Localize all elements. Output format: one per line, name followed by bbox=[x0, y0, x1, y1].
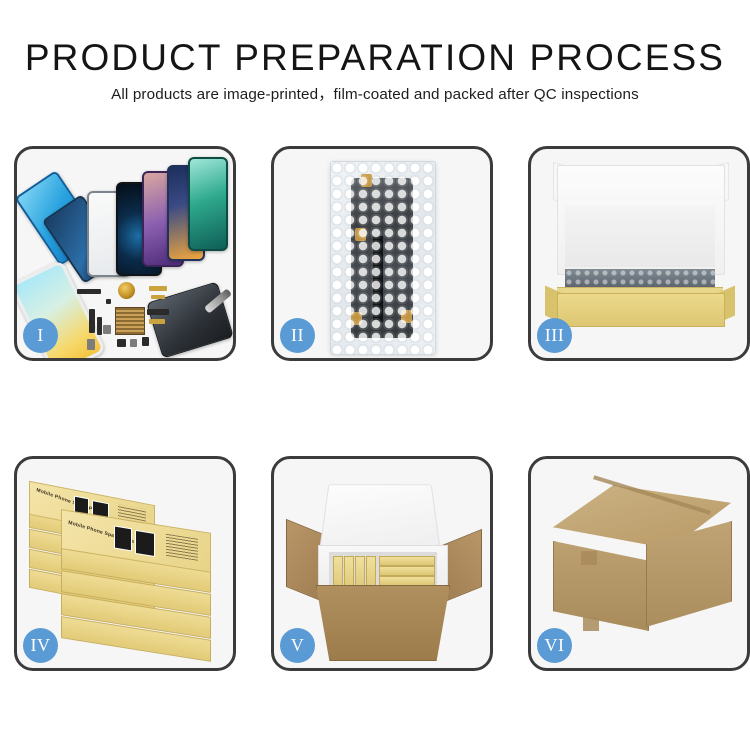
box-spec-lines-front bbox=[166, 534, 198, 561]
bag-connector-mid-icon bbox=[355, 228, 366, 241]
bag-connector-right-icon bbox=[401, 310, 412, 323]
box-window-front-2 bbox=[135, 530, 155, 557]
box-inner-wall-icon bbox=[565, 205, 715, 267]
carton-tape-upper-icon bbox=[581, 551, 597, 565]
part-small-screen-icon bbox=[87, 339, 95, 350]
part-flex-gold-icon bbox=[149, 286, 167, 291]
bag-connector-top-icon bbox=[361, 174, 372, 187]
step-panel-3[interactable]: III bbox=[528, 146, 750, 361]
bag-connector-left-icon bbox=[351, 312, 362, 325]
step-panel-6[interactable]: VI bbox=[528, 456, 750, 671]
step-badge-2: II bbox=[280, 318, 315, 353]
packed-box-6 bbox=[379, 566, 435, 576]
part-cable-icon bbox=[89, 309, 95, 333]
part-cable2-icon bbox=[97, 317, 102, 335]
part-connector-icon bbox=[147, 309, 169, 315]
box-window-front-1 bbox=[114, 526, 132, 552]
part-flex-gold2-icon bbox=[151, 295, 165, 299]
step-panel-4[interactable]: Mobile Phone Spare Parts Mobile Phone Sp… bbox=[14, 456, 236, 671]
part-screw-icon bbox=[106, 299, 111, 304]
carton-left-face-icon bbox=[553, 541, 649, 631]
carton-body-icon bbox=[316, 585, 450, 661]
step-badge-3: III bbox=[537, 318, 572, 353]
packed-box-7 bbox=[379, 576, 435, 586]
step-badge-6: VI bbox=[537, 628, 572, 663]
foam-lid-icon bbox=[319, 484, 442, 553]
wrapped-flex-cable-icon bbox=[373, 236, 383, 322]
packed-box-5 bbox=[379, 556, 435, 566]
bubble-bag-icon bbox=[330, 161, 436, 355]
part-strip-icon bbox=[77, 289, 101, 294]
carton-tape-lower-icon bbox=[583, 617, 599, 631]
step-panel-1[interactable]: I bbox=[14, 146, 236, 361]
chip-grid-icon bbox=[115, 307, 145, 335]
process-steps-grid: I II bbox=[0, 0, 750, 750]
product-preparation-process-page: PRODUCT PREPARATION PROCESS All products… bbox=[0, 0, 750, 750]
box-front-panel-icon bbox=[557, 293, 725, 327]
step-panel-5[interactable]: V bbox=[271, 456, 493, 671]
step-badge-5: V bbox=[280, 628, 315, 663]
part-gold-connector-icon bbox=[149, 319, 165, 324]
phone-screen-green-icon bbox=[188, 157, 228, 251]
part-sim-tray-icon bbox=[130, 339, 137, 347]
part-button-icon bbox=[117, 339, 126, 347]
speaker-coil-icon bbox=[118, 282, 135, 299]
part-camera-icon bbox=[142, 337, 149, 346]
step-badge-1: I bbox=[23, 318, 58, 353]
step-badge-4: IV bbox=[23, 628, 58, 663]
step-panel-2[interactable]: II bbox=[271, 146, 493, 361]
part-bracket-icon bbox=[103, 325, 111, 334]
